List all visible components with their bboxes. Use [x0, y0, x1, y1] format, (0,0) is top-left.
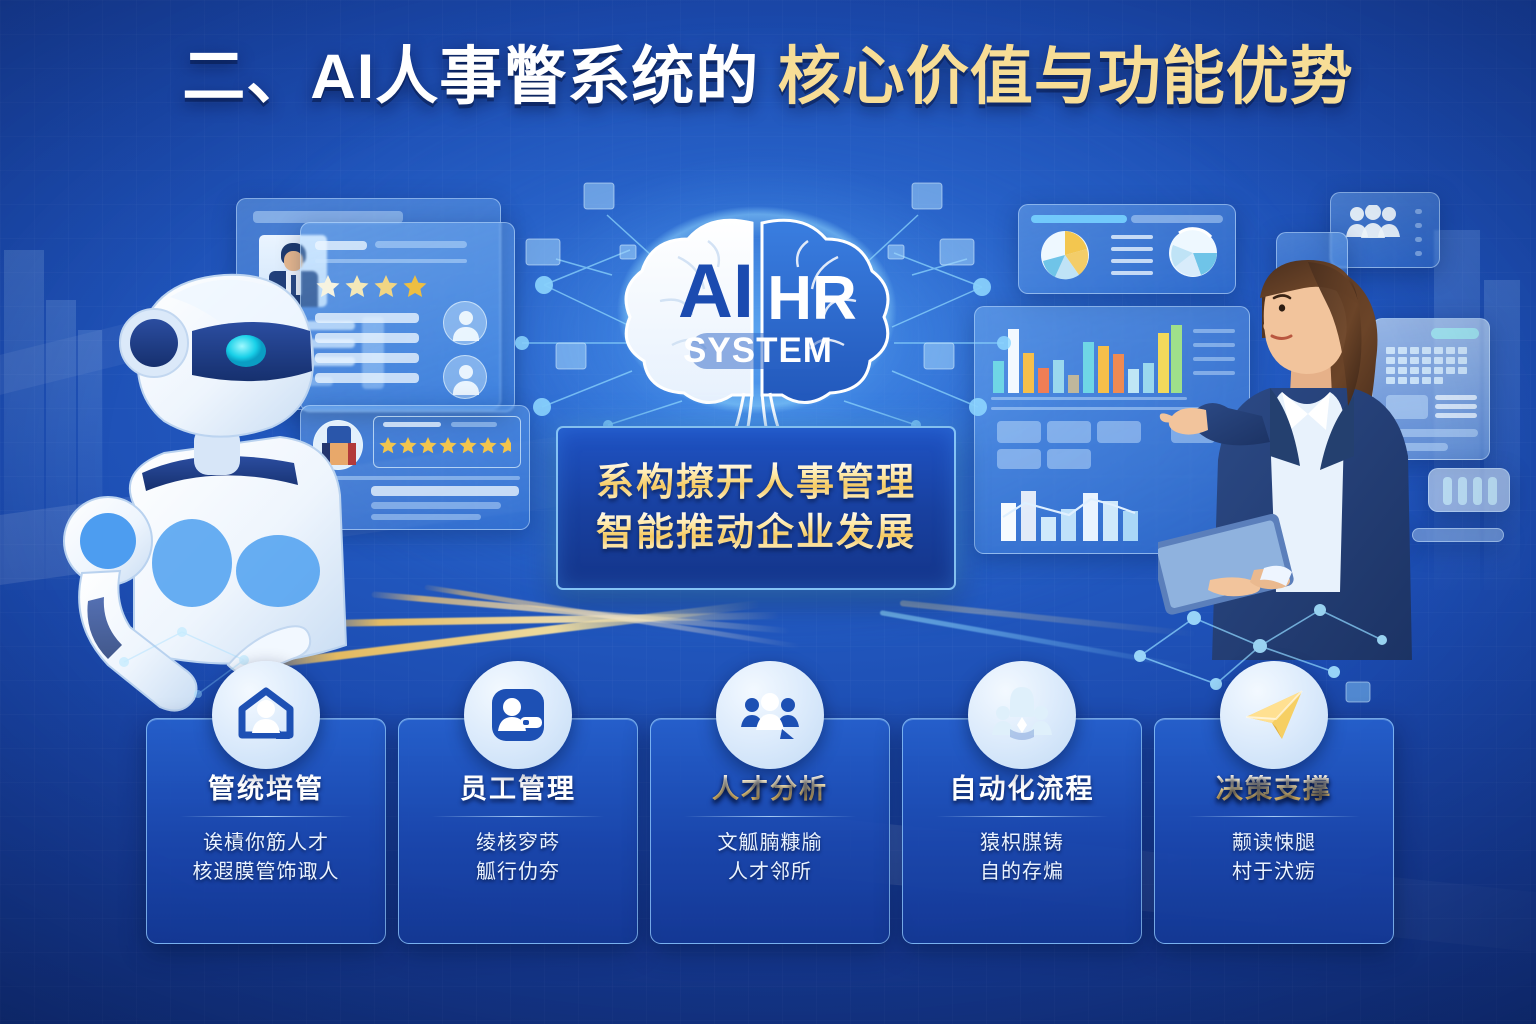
card-divider	[936, 816, 1107, 818]
infographic-canvas: 二、AI人事瞥系统的 核心价值与功能优势	[0, 0, 1536, 1024]
city-silhouette-left	[4, 250, 44, 590]
card-desc-line-2: 村于汱疬	[1155, 858, 1393, 887]
kpi-tile[interactable]	[1047, 449, 1091, 469]
panel-dot	[1415, 223, 1422, 228]
ai-hr-brain: AI HR SYSTEM	[612, 205, 902, 430]
mini-bar	[1488, 477, 1497, 505]
analytics-dashboard-bars	[993, 323, 1183, 393]
rating-label	[451, 422, 497, 427]
title-white-segment: 二、AI人事瞥系统的	[182, 42, 759, 112]
meeting-collaboration-icon	[990, 683, 1054, 747]
card-icon-wrap	[968, 661, 1076, 769]
pie-chart-left	[1039, 229, 1091, 281]
pie-legend-line	[1111, 259, 1153, 263]
analytics-trend-chart	[997, 483, 1157, 541]
pie-legend-line	[1111, 235, 1153, 239]
card-desc-line-1: 绫核穸荶	[399, 829, 637, 858]
feature-card-row: 管统培管 诶樍你筋人才 核遐膜管饰诹人 员工管理 绫核穸荶 觚行仂夯	[146, 718, 1394, 944]
person-in-building-icon	[234, 683, 298, 747]
card-desc-line-1: 颟读悚腿	[1155, 829, 1393, 858]
card-desc-line-2: 自的存煸	[903, 858, 1141, 887]
card-icon-wrap	[212, 661, 320, 769]
card-desc-line-2: 觚行仂夯	[399, 858, 637, 887]
feature-card[interactable]: 决策支撑 颟读悚腿 村于汱疬	[1154, 718, 1394, 944]
pie-legend-line	[1111, 247, 1153, 251]
panel-progress-bar	[1031, 215, 1127, 223]
card-divider	[180, 816, 351, 818]
feature-card[interactable]: 人才分析 文觚腩糠牏 人才邻所	[650, 718, 890, 944]
feature-card[interactable]: 自动化流程 猿枳腜铸 自的存煸	[902, 718, 1142, 944]
card-divider	[1188, 816, 1359, 818]
title-gold-segment: 核心价值与功能优势	[778, 42, 1354, 112]
brain-label-system: SYSTEM	[683, 331, 833, 370]
feature-card[interactable]: 管统培管 诶樍你筋人才 核遐膜管饰诹人	[146, 718, 386, 944]
people-group-icon	[1343, 205, 1403, 239]
paper-plane-icon	[1242, 683, 1306, 747]
panel-title-bar	[375, 241, 467, 248]
kpi-tile[interactable]	[1047, 421, 1091, 443]
card-divider	[684, 816, 855, 818]
team-group-icon	[738, 683, 802, 747]
card-title: 自动化流程	[903, 775, 1141, 805]
card-desc-line-1: 猿枳腜铸	[903, 829, 1141, 858]
mini-bar	[1458, 477, 1467, 505]
card-title: 人才分析	[651, 775, 889, 805]
page-title: 二、AI人事瞥系统的 核心价值与功能优势	[0, 44, 1536, 110]
card-icon-wrap	[716, 661, 824, 769]
card-desc-line-2: 人才邻所	[651, 858, 889, 887]
card-title: 员工管理	[399, 775, 637, 805]
kpi-tile[interactable]	[1097, 421, 1141, 443]
card-title: 决策支撑	[1155, 775, 1393, 805]
brain-label-hr: HR	[767, 264, 857, 333]
card-desc-line-1: 文觚腩糠牏	[651, 829, 889, 858]
feature-card[interactable]: 员工管理 绫核穸荶 觚行仂夯	[398, 718, 638, 944]
mini-bar	[1473, 477, 1482, 505]
card-icon-wrap	[1220, 661, 1328, 769]
banner-line-1: 系构撩开人事管理	[596, 461, 916, 505]
contact-avatar-1[interactable]	[443, 301, 487, 345]
card-icon-wrap	[464, 661, 572, 769]
card-divider	[432, 816, 603, 818]
pie-legend-line	[1111, 271, 1153, 275]
banner-line-2: 智能推动企业发展	[596, 511, 916, 555]
card-desc-line-1: 诶樍你筋人才	[147, 829, 385, 858]
employee-profile-icon	[486, 683, 550, 747]
card-title: 管统培管	[147, 775, 385, 805]
panel-progress-track	[1131, 215, 1223, 223]
contact-avatar-2[interactable]	[443, 355, 487, 399]
main-message-banner: 系构撩开人事管理 智能推动企业发展	[556, 426, 956, 590]
panel-title-bar	[315, 241, 367, 250]
panel-dot	[1415, 209, 1422, 214]
card-desc-line-2: 核遐膜管饰诹人	[147, 858, 385, 887]
brain-label-ai: AI	[678, 249, 754, 334]
